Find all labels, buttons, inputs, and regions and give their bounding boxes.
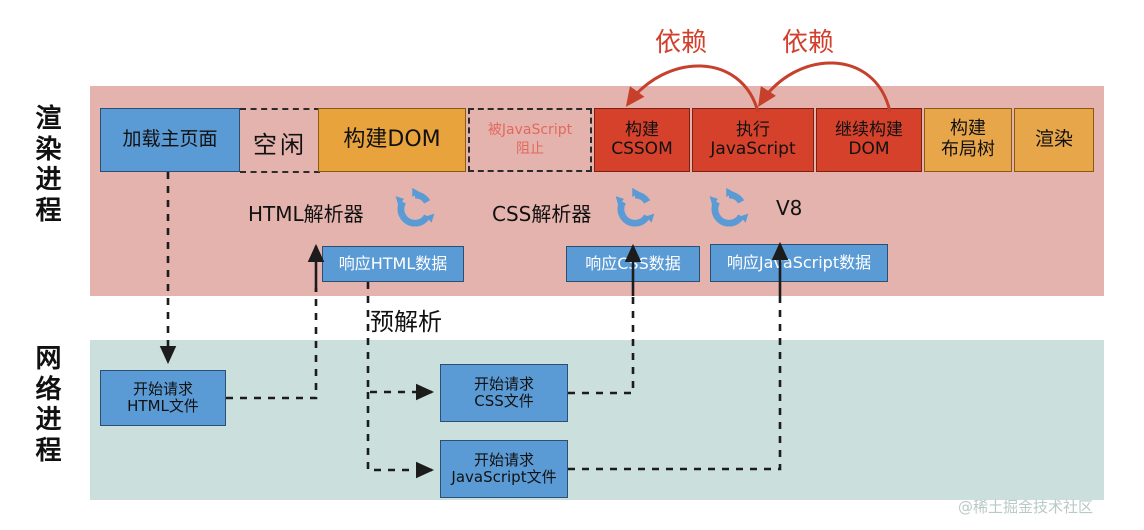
box-label-line1: 开始请求 bbox=[133, 381, 193, 398]
box-label-line2: 布局树 bbox=[941, 140, 995, 161]
box-label-line1: 开始请求 bbox=[474, 452, 534, 469]
lane-label-char: 程 bbox=[26, 196, 72, 227]
box-label-line1: 执行 bbox=[736, 121, 770, 140]
diagram-canvas: 渲 染 进 程 网 络 进 程 加载主页面 空闲 构建DOM 被JavaScri… bbox=[0, 0, 1144, 530]
timeline-box-build-layout-tree: 构建 布局树 bbox=[924, 108, 1012, 172]
lane-label-char: 进 bbox=[26, 165, 72, 196]
lane-label-char: 程 bbox=[26, 436, 72, 467]
box-label: 加载主页面 bbox=[122, 129, 217, 151]
box-label-line2: CSSOM bbox=[611, 140, 673, 159]
caption-css-parser: CSS解析器 bbox=[492, 198, 591, 227]
timeline-box-load-main-page: 加载主页面 bbox=[100, 108, 240, 172]
lane-label-network-process: 网 络 进 程 bbox=[26, 344, 72, 467]
lane-label-char: 络 bbox=[26, 375, 72, 406]
box-label-line1: 构建 bbox=[950, 119, 986, 140]
network-process-lane-band bbox=[90, 340, 1104, 500]
timeline-box-build-cssom: 构建 CSSOM bbox=[594, 108, 690, 172]
network-box-request-html-file: 开始请求 HTML文件 bbox=[100, 370, 226, 426]
timeline-label-idle: 空闲 bbox=[243, 125, 317, 160]
response-box-css-data: 响应CSS数据 bbox=[566, 246, 700, 282]
box-label-line1: 构建 bbox=[625, 121, 659, 140]
box-label: 响应CSS数据 bbox=[585, 255, 681, 273]
timeline-box-continue-build-dom: 继续构建 DOM bbox=[816, 108, 922, 172]
refresh-cycle-icon bbox=[612, 186, 658, 232]
timeline-rail-top bbox=[240, 108, 320, 110]
box-label-line2: HTML文件 bbox=[127, 398, 199, 415]
caption-pre-parse: 预解析 bbox=[370, 302, 442, 337]
box-label-line2: CSS文件 bbox=[474, 393, 534, 410]
timeline-box-build-dom: 构建DOM bbox=[318, 108, 466, 172]
caption-html-parser: HTML解析器 bbox=[248, 198, 364, 227]
watermark: @稀土掘金技术社区 bbox=[958, 496, 1093, 517]
timeline-box-execute-javascript: 执行 JavaScript bbox=[692, 108, 814, 172]
caption-v8-engine: V8 bbox=[776, 196, 802, 220]
box-label-line2: DOM bbox=[848, 140, 889, 159]
refresh-cycle-icon bbox=[706, 186, 752, 232]
timeline-box-render: 渲染 bbox=[1014, 108, 1094, 172]
timeline-box-blocked-by-javascript: 被JavaScript 阻止 bbox=[468, 108, 592, 172]
box-label: 构建DOM bbox=[343, 127, 440, 152]
response-box-html-data: 响应HTML数据 bbox=[322, 246, 464, 282]
refresh-cycle-icon bbox=[392, 186, 438, 232]
lane-label-render-process: 渲 染 进 程 bbox=[26, 104, 72, 227]
box-label-line2: 阻止 bbox=[516, 140, 544, 159]
box-label-line1: 开始请求 bbox=[474, 376, 534, 393]
annotation-dependency-cssom: 依赖 bbox=[655, 22, 707, 59]
box-label: 响应HTML数据 bbox=[339, 255, 448, 273]
box-label: 响应JavaScript数据 bbox=[727, 254, 871, 272]
lane-label-char: 进 bbox=[26, 405, 72, 436]
box-label-line2: JavaScript bbox=[710, 140, 795, 159]
timeline-rail-bottom bbox=[240, 171, 320, 173]
lane-label-char: 渲 bbox=[26, 104, 72, 135]
box-label-line1: 被JavaScript bbox=[488, 121, 572, 140]
lane-label-char: 染 bbox=[26, 135, 72, 166]
box-label: 渲染 bbox=[1035, 129, 1073, 151]
network-box-request-css-file: 开始请求 CSS文件 bbox=[440, 364, 568, 422]
response-box-javascript-data: 响应JavaScript数据 bbox=[710, 244, 888, 282]
lane-label-char: 网 bbox=[26, 344, 72, 375]
box-label-line2: JavaScript文件 bbox=[451, 469, 556, 486]
annotation-dependency-javascript: 依赖 bbox=[782, 22, 834, 59]
box-label-line1: 继续构建 bbox=[835, 121, 903, 140]
network-box-request-javascript-file: 开始请求 JavaScript文件 bbox=[440, 440, 568, 498]
